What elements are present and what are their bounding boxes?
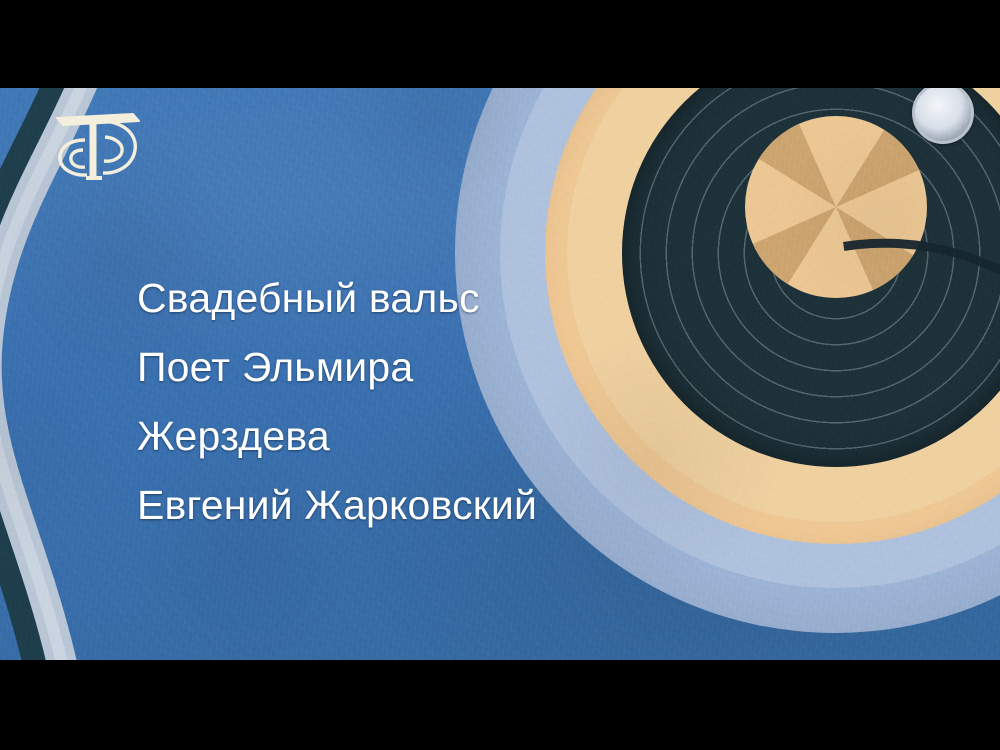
title-line-4: Евгений Жарковский [137, 471, 757, 540]
title-line-1: Свадебный вальс [137, 264, 757, 333]
tv-monogram-logo [47, 104, 145, 186]
letterbox-bar-bottom [0, 660, 1000, 750]
letterbox-bar-top [0, 0, 1000, 88]
title-block: Свадебный вальс Поет Эльмира Жерздева Ев… [137, 264, 757, 540]
screenshot-root: Свадебный вальс Поет Эльмира Жерздева Ев… [0, 0, 1000, 750]
video-thumbnail-artwork: Свадебный вальс Поет Эльмира Жерздева Ев… [0, 88, 1000, 660]
title-line-3: Жерздева [137, 402, 757, 471]
title-line-2: Поет Эльмира [137, 333, 757, 402]
